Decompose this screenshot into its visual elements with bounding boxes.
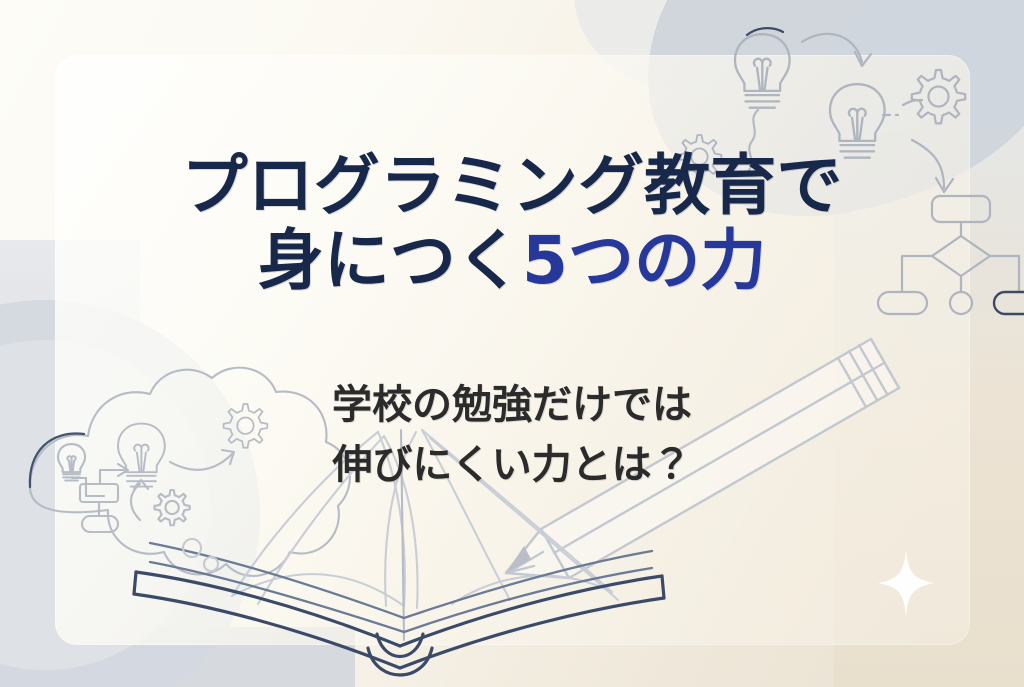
page-title: プログラミング教育で 身につく5つの力 bbox=[0, 150, 1024, 297]
subtitle-line-2: 伸びにくい力とは？ bbox=[0, 435, 1024, 495]
title-line-2: 身につく5つの力 bbox=[0, 225, 1024, 296]
title-line-2-highlight: 5つの力 bbox=[522, 222, 766, 299]
subtitle-line-1: 学校の勉強だけでは bbox=[0, 375, 1024, 435]
text-block: プログラミング教育で 身につく5つの力 学校の勉強だけでは 伸びにくい力とは？ bbox=[0, 0, 1024, 687]
thumbnail-canvas: プログラミング教育で 身につく5つの力 学校の勉強だけでは 伸びにくい力とは？ bbox=[0, 0, 1024, 687]
title-line-2-plain: 身につく bbox=[258, 222, 522, 299]
page-subtitle: 学校の勉強だけでは 伸びにくい力とは？ bbox=[0, 375, 1024, 495]
title-line-1: プログラミング教育で bbox=[0, 150, 1024, 221]
